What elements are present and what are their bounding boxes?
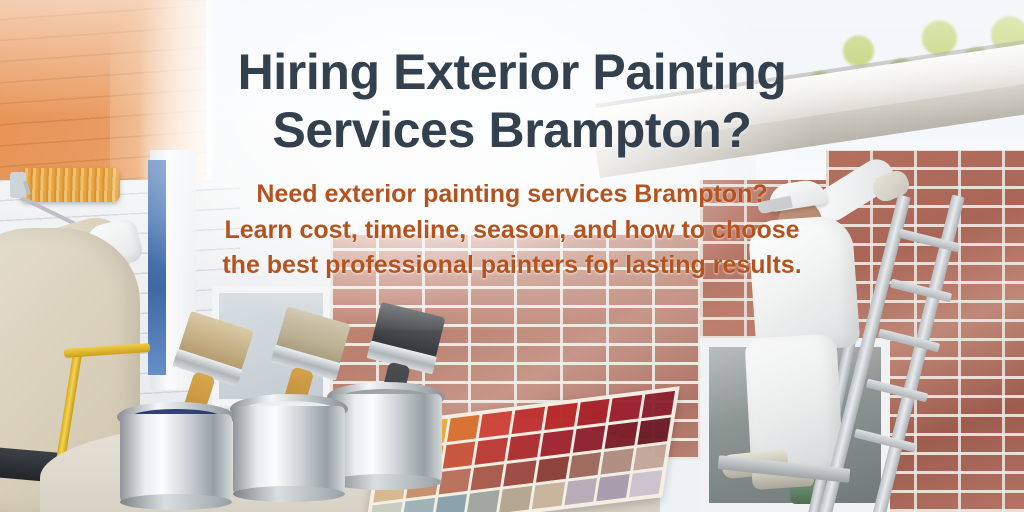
marketing-banner: Hiring Exterior Painting Services Brampt…	[0, 0, 1024, 512]
swatch-cell	[568, 452, 601, 479]
swatch-cell	[447, 415, 480, 442]
swatch-cell	[507, 433, 540, 460]
swatch-cell	[442, 441, 475, 468]
swatch-cell	[532, 482, 565, 509]
swatch-cell	[369, 502, 402, 512]
swatch-cell	[605, 421, 638, 448]
swatch-cell	[544, 403, 577, 430]
swatch-cell	[642, 391, 675, 418]
swatch-cell	[601, 448, 634, 475]
swatch-cell	[434, 494, 467, 512]
swatch-cell	[638, 417, 671, 444]
swatch-cell	[540, 429, 573, 456]
can-base	[120, 494, 232, 510]
swatch-cell	[503, 460, 536, 487]
swatch-cell	[609, 395, 642, 422]
swatch-cell	[633, 444, 666, 471]
swatch-cell	[401, 498, 434, 512]
swatch-cell	[577, 399, 610, 426]
can-body	[120, 414, 232, 506]
swatch-cell	[499, 486, 532, 512]
can-body	[233, 406, 345, 498]
swatch-cell	[564, 478, 597, 505]
swatch-cell	[467, 490, 500, 512]
text-overlay: Hiring Exterior Painting Services Brampt…	[0, 0, 1024, 330]
swatch-cell	[438, 468, 471, 495]
swatch-cell	[475, 437, 508, 464]
swatch-cell	[471, 464, 504, 491]
subheadline: Need exterior painting services Brampton…	[222, 177, 802, 284]
swatch-cell	[597, 474, 630, 501]
swatch-cell	[512, 407, 545, 434]
swatch-cell	[479, 411, 512, 438]
headline: Hiring Exterior Painting Services Brampt…	[162, 44, 862, 159]
can-base	[330, 474, 442, 490]
can-base	[233, 486, 345, 502]
swatch-cell	[536, 456, 569, 483]
swatch-cell	[573, 425, 606, 452]
swatch-cell	[629, 470, 662, 497]
